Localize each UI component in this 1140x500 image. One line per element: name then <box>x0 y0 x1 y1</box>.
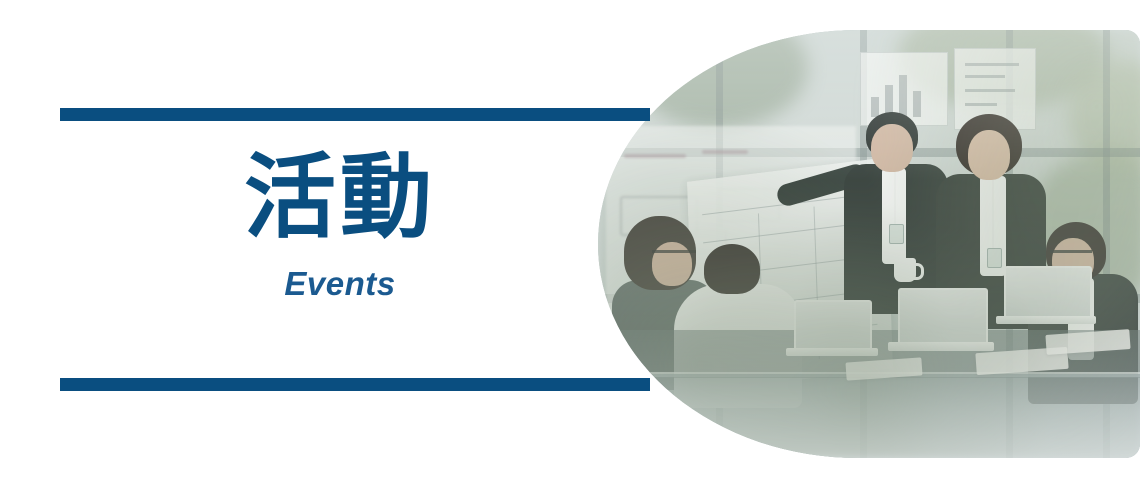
heading-block: 活動 Events <box>60 150 620 303</box>
desk-front-surface <box>598 374 1140 458</box>
page-title-japanese: 活動 <box>60 150 620 247</box>
bottom-divider-rule <box>60 378 650 391</box>
events-banner: 活動 Events <box>0 0 1140 500</box>
hero-photo <box>598 30 1140 458</box>
coffee-cup <box>894 258 916 282</box>
page-subtitle-english: Events <box>60 265 620 303</box>
hero-photo-image <box>598 30 1140 458</box>
top-divider-rule <box>60 108 650 121</box>
